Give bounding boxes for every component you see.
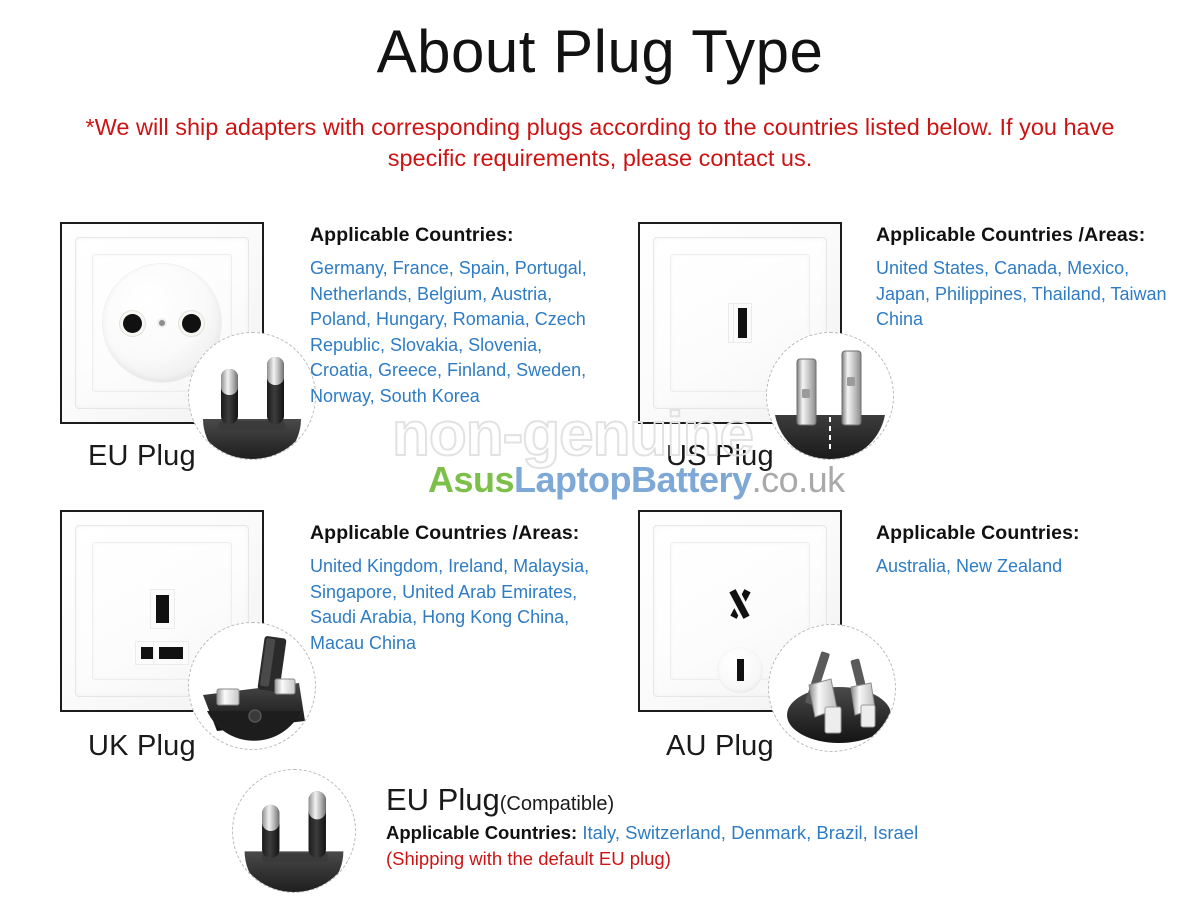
us-plug-drawing: [767, 333, 893, 459]
country-list-us: Applicable Countries /Areas: United Stat…: [876, 224, 1176, 333]
applicable-heading-us: Applicable Countries /Areas:: [876, 224, 1176, 247]
applicable-heading-eu: Applicable Countries:: [310, 224, 610, 247]
applicable-heading-uk: Applicable Countries /Areas:: [310, 522, 620, 545]
page-title: About Plug Type: [0, 20, 1200, 83]
plug-card-us: US Plug: [638, 222, 842, 424]
watermark-brand: AsusLaptopBattery.co.uk: [428, 462, 845, 498]
applicable-countries-eu: Germany, France, Spain, Portugal, Nether…: [310, 256, 610, 409]
au-plug-drawing: [769, 625, 895, 751]
country-list-au: Applicable Countries: Australia, New Zea…: [876, 522, 1176, 580]
uk-live-slot-right: [159, 647, 183, 659]
applicable-countries-us: United States, Canada, Mexico, Japan, Ph…: [876, 256, 1176, 333]
eu-plug-drawing-compatible: [233, 770, 355, 892]
uk-plug-inset-icon: [188, 622, 316, 750]
plug-type-infographic: About Plug Type *We will ship adapters w…: [0, 0, 1200, 900]
watermark-brand-part1: Asus: [428, 459, 514, 500]
uk-plug-drawing: [189, 623, 315, 749]
compatible-countries-line: Applicable Countries: Italy, Switzerland…: [386, 822, 918, 844]
plug-card-uk: UK Plug: [60, 510, 264, 712]
compatible-heading: Applicable Countries:: [386, 822, 577, 843]
us-plug-inset-icon: [766, 332, 894, 460]
eu-plug-drawing: [189, 333, 315, 459]
shipping-note: *We will ship adapters with correspondin…: [60, 112, 1140, 175]
compatible-title-main: EU Plug: [386, 782, 500, 817]
country-list-uk: Applicable Countries /Areas: United King…: [310, 522, 620, 656]
country-list-eu: Applicable Countries: Germany, France, S…: [310, 224, 610, 409]
applicable-countries-uk: United Kingdom, Ireland, Malaysia, Singa…: [310, 554, 620, 656]
plug-label-uk: UK Plug: [88, 730, 196, 763]
eu-center-screw: [159, 320, 165, 326]
eu-plug-inset-icon: [188, 332, 316, 460]
plug-label-eu: EU Plug: [88, 440, 196, 473]
plug-label-us: US Plug: [666, 440, 774, 473]
au-earth-recess: [717, 647, 763, 693]
compatible-title-suffix: (Compatible): [500, 793, 614, 815]
plug-label-au: AU Plug: [666, 730, 774, 763]
us-slot-right: [738, 308, 747, 338]
compatible-note: (Shipping with the default EU plug): [386, 848, 671, 870]
eu-plug-inset-icon-compatible: [232, 769, 356, 893]
plug-card-au: AU Plug: [638, 510, 842, 712]
au-plug-inset-icon: [768, 624, 896, 752]
compatible-countries: Italy, Switzerland, Denmark, Brazil, Isr…: [582, 822, 918, 843]
applicable-heading-au: Applicable Countries:: [876, 522, 1176, 545]
au-earth-slot: [737, 659, 744, 681]
uk-earth-slot: [156, 595, 169, 623]
compatible-title: EU Plug(Compatible): [386, 782, 614, 818]
applicable-countries-au: Australia, New Zealand: [876, 554, 1176, 580]
plug-card-eu: EU Plug: [60, 222, 264, 424]
eu-pin-hole-left: [123, 314, 142, 333]
eu-pin-hole-right: [182, 314, 201, 333]
